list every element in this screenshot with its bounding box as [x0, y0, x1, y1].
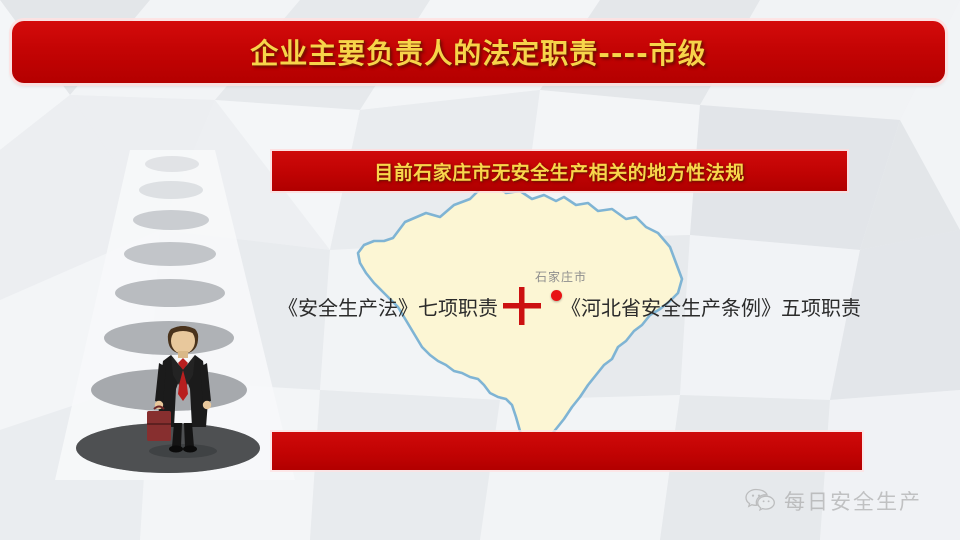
- sub-banner: 目前石家庄市无安全生产相关的地方性法规: [272, 151, 847, 191]
- businessman-figure: [133, 323, 233, 458]
- wechat-icon: [745, 488, 775, 514]
- plus-icon: [500, 284, 544, 328]
- law-right-text: 《河北省安全生产条例》五项职责: [561, 292, 861, 321]
- sub-banner-text: 目前石家庄市无安全生产相关的地方性法规: [374, 158, 745, 185]
- page-title: 企业主要负责人的法定职责----市级: [250, 32, 707, 72]
- watermark: 每日安全生产: [745, 486, 922, 516]
- slide-title-banner: 企业主要负责人的法定职责----市级: [12, 21, 945, 83]
- law-left-text: 《安全生产法》七项职责: [278, 292, 498, 321]
- map-city-label: 石家庄市: [535, 268, 587, 285]
- slide-canvas: 石家庄市 企业主要负责人的法定职责----市级 目前石家庄市无安全生产相关的地方…: [0, 0, 960, 540]
- bottom-banner: [272, 432, 862, 470]
- watermark-text: 每日安全生产: [784, 486, 922, 516]
